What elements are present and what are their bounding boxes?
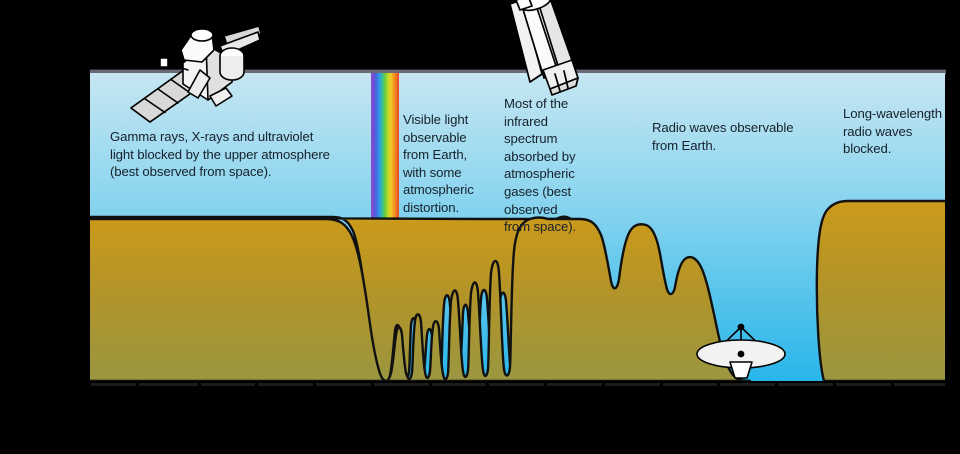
axis-tick xyxy=(717,381,720,388)
annotation-visible-light: Visible light observable from Earth, wit… xyxy=(403,111,483,217)
long-radio-blocked-area xyxy=(817,201,945,381)
figure-canvas: Gamma rays, X-rays and ultraviolet light… xyxy=(0,0,960,454)
space-telescope-icon xyxy=(498,0,594,96)
axis-tick xyxy=(544,381,547,388)
axis-tick xyxy=(198,381,201,388)
axis-tick xyxy=(88,381,91,388)
axis-tick xyxy=(660,381,663,388)
satellite-icon xyxy=(128,8,263,123)
axis-tick xyxy=(429,381,432,388)
annotation-radio-waves: Radio waves observable from Earth. xyxy=(652,119,812,154)
axis-tick xyxy=(891,381,894,388)
axis-tick xyxy=(371,381,374,388)
axis-tick xyxy=(833,381,836,388)
axis-tick xyxy=(313,381,316,388)
annotation-infrared: Most of the infrared spectrum absorbed b… xyxy=(504,95,604,236)
radio-telescope-dish-icon xyxy=(692,322,790,380)
axis-tick xyxy=(255,381,258,388)
axis-tick xyxy=(945,381,948,388)
annotation-gamma-xray-uv: Gamma rays, X-rays and ultraviolet light… xyxy=(110,128,372,181)
annotation-long-wavelength-radio: Long-wavelength radio waves blocked. xyxy=(843,105,943,158)
wavelength-axis xyxy=(88,381,948,388)
axis-tick xyxy=(602,381,605,388)
axis-line xyxy=(88,383,948,386)
axis-tick xyxy=(486,381,489,388)
axis-tick xyxy=(775,381,778,388)
axis-tick xyxy=(136,381,139,388)
